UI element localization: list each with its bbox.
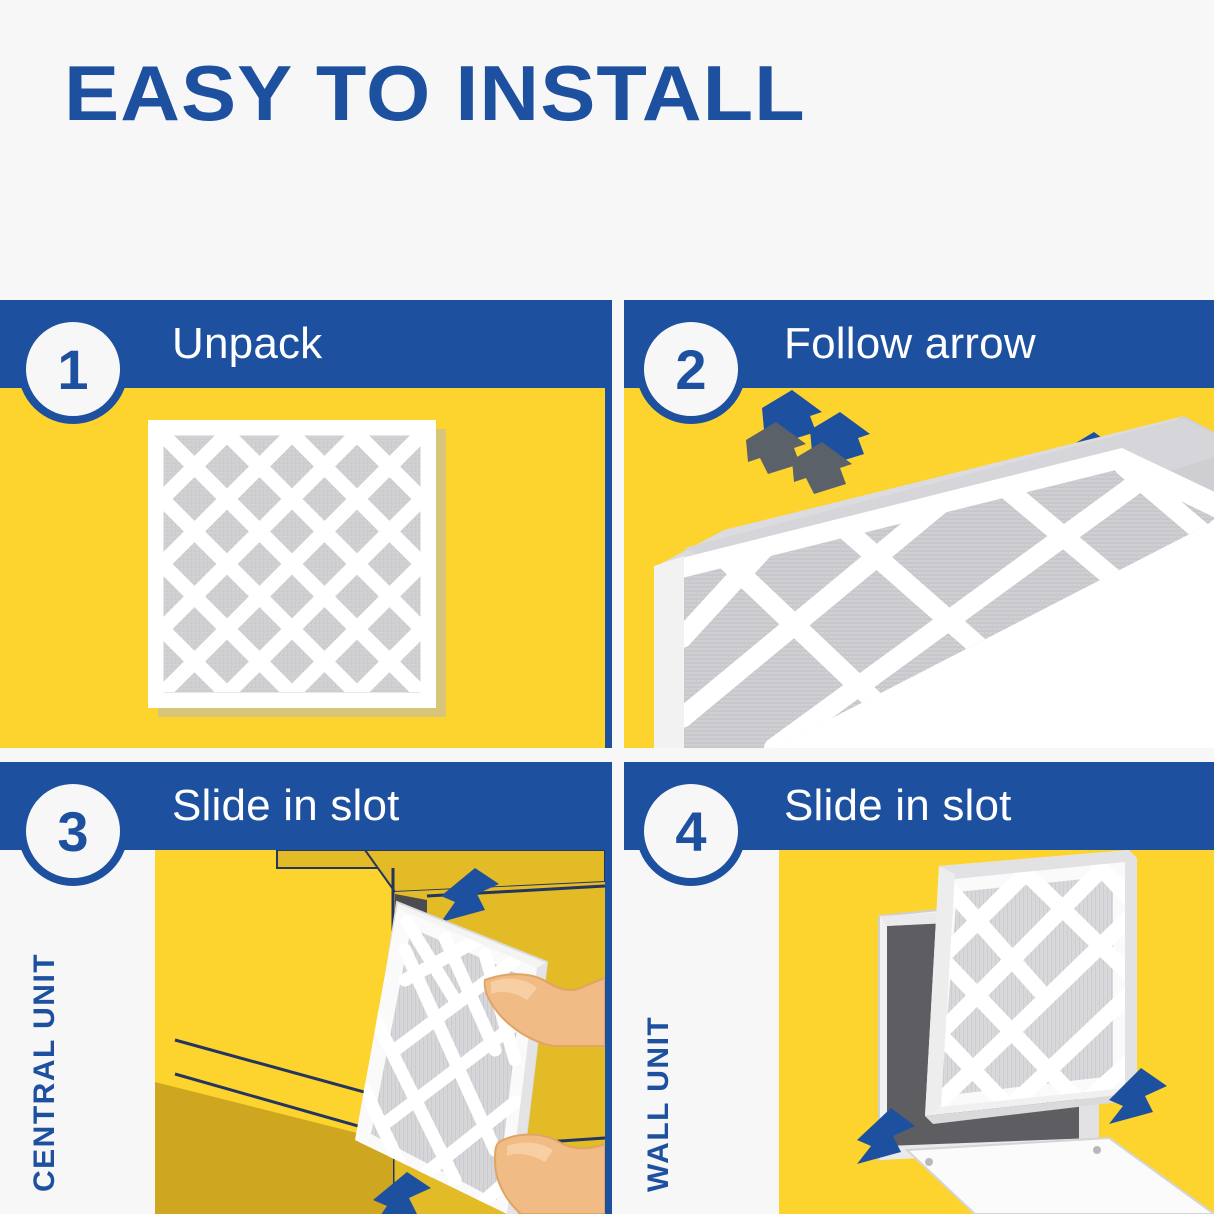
step-1-illustration — [0, 388, 612, 748]
step-4-label: Slide in slot — [784, 781, 1012, 831]
air-filter-angled-with-airflow-arrows-icon — [624, 388, 1214, 748]
step-4-number-circle: 4 — [636, 776, 746, 886]
hands-inserting-filter-into-central-unit-icon — [155, 850, 605, 1214]
step-4-illustration — [779, 850, 1214, 1214]
step-3-label: Slide in slot — [172, 781, 400, 831]
air-filter-front-view-icon — [0, 388, 612, 748]
step-2-illustration — [624, 388, 1214, 748]
infographic-page: EASY TO INSTALL Unpack 1 — [0, 0, 1214, 1214]
wall-unit-label: WALL UNIT — [642, 1016, 676, 1192]
step-1-number-circle: 1 — [18, 314, 128, 424]
step-panel-3: Slide in slot 3 CENTRAL UNIT — [0, 762, 612, 1214]
step-panel-2: Follow arrow 2 — [624, 300, 1214, 748]
step-3-illustration — [155, 850, 612, 1214]
step-1-label: Unpack — [172, 319, 322, 369]
page-title: EASY TO INSTALL — [64, 54, 806, 132]
step-2-number-circle: 2 — [636, 314, 746, 424]
step-2-label: Follow arrow — [784, 319, 1036, 369]
filter-inserting-into-wall-vent-icon — [779, 850, 1214, 1214]
central-unit-label: CENTRAL UNIT — [28, 953, 62, 1192]
step-panel-4: Slide in slot 4 WALL UNIT — [624, 762, 1214, 1214]
step-3-number-circle: 3 — [18, 776, 128, 886]
step-panel-1: Unpack 1 — [0, 300, 612, 748]
